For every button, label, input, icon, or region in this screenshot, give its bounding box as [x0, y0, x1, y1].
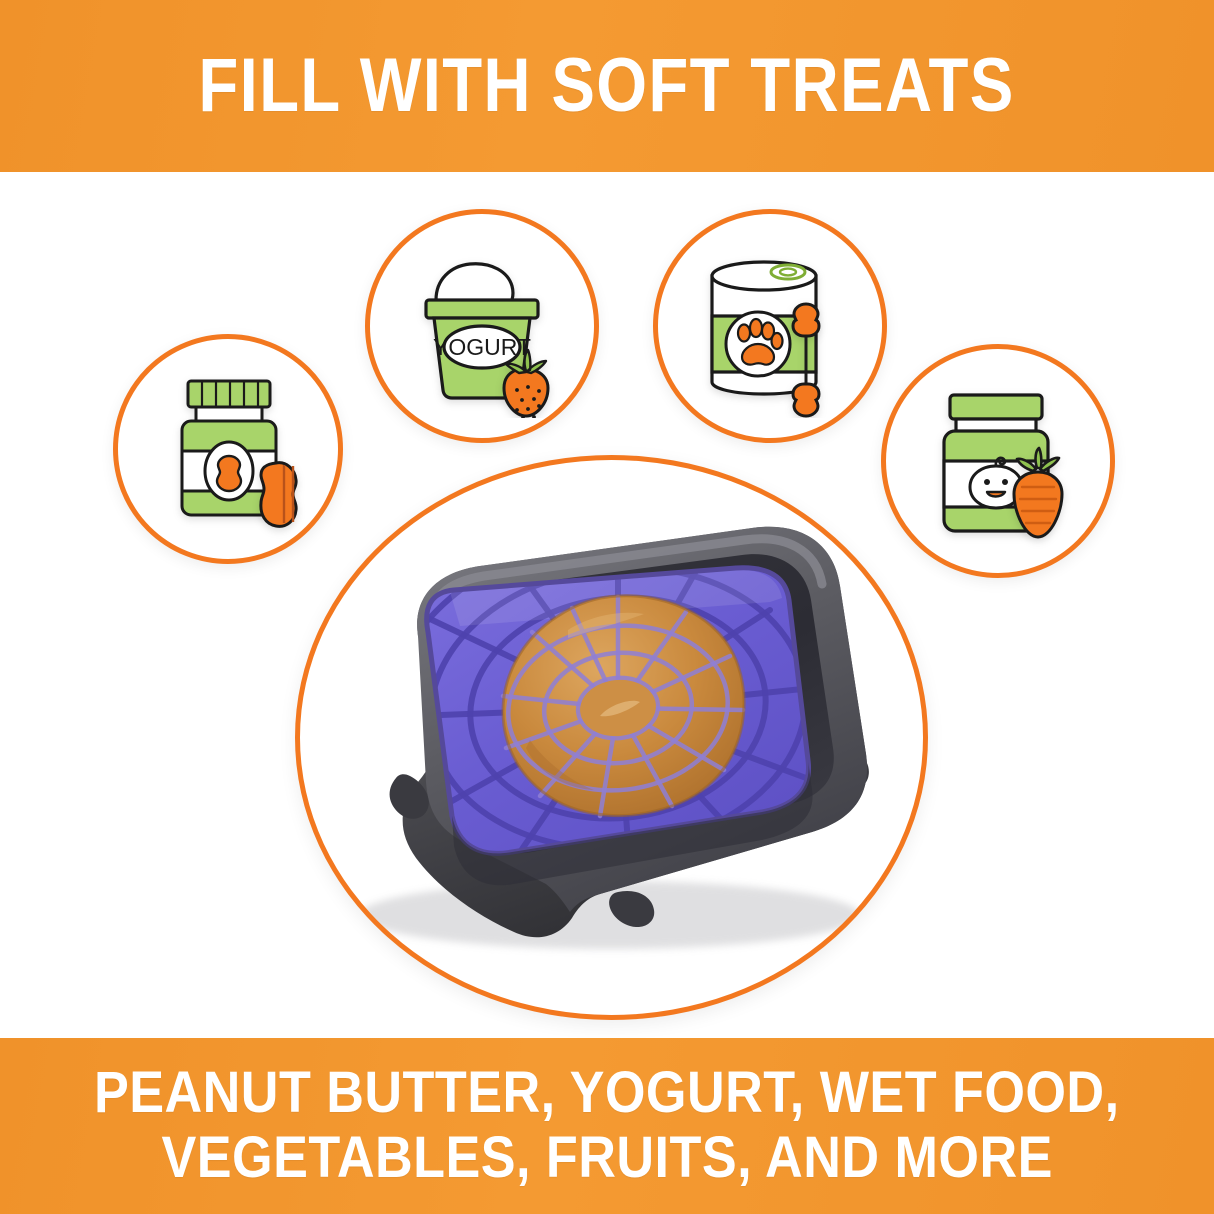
infographic-canvas: FILL WITH SOFT TREATS [0, 0, 1214, 1214]
treat-icon-circle-baby-food [881, 344, 1115, 578]
slow-feeder-lick-mat-bowl [300, 460, 913, 1005]
page-title: FILL WITH SOFT TREATS [199, 48, 1015, 124]
footer-line-2: VEGETABLES, FRUITS, AND MORE [161, 1126, 1052, 1191]
baby-food-jar-icon [906, 369, 1090, 553]
treat-icon-circle-yogurt: YOGURT [365, 209, 599, 443]
product-drop-shadow [360, 881, 860, 949]
product-hero-circle [295, 455, 928, 1020]
footer-banner: PEANUT BUTTER, YOGURT, WET FOOD, VEGETAB… [0, 1038, 1214, 1214]
header-banner: FILL WITH SOFT TREATS [0, 0, 1214, 172]
yogurt-label-text: YOGURT [433, 334, 531, 360]
peanut-butter-jar-icon [138, 359, 318, 539]
yogurt-cup-icon: YOGURT [390, 234, 574, 418]
wet-food-can-icon [678, 234, 862, 418]
treat-icon-circle-wet-food [653, 209, 887, 443]
footer-line-1: PEANUT BUTTER, YOGURT, WET FOOD, [94, 1061, 1120, 1126]
